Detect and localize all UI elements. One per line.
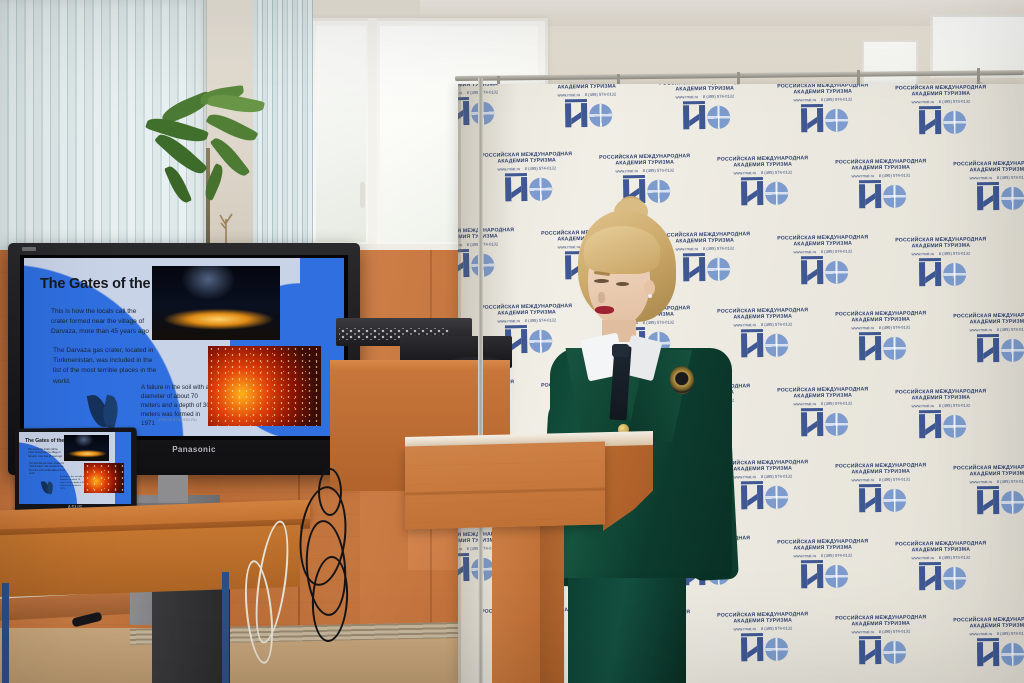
eye-right [616, 282, 629, 286]
banner-logo-block: РОССИЙСКАЯ МЕЖДУНАРОДНАЯАКАДЕМИЯ ТУРИЗМА… [940, 312, 1024, 364]
banner-website: www.rmat.ru [970, 175, 993, 180]
rmat-logo-icon [561, 99, 614, 130]
desk-leg-left [2, 583, 9, 683]
laptop-lava-texture [84, 463, 124, 493]
laptop-night-photo [64, 435, 109, 461]
rmat-logo-icon [915, 106, 967, 137]
banner-website: www.rmat.ru [793, 401, 816, 406]
banner-website: www.rmat.ru [912, 251, 935, 256]
banner-logo-block: РОССИЙСКАЯ МЕЖДУНАРОДНАЯАКАДЕМИЯ ТУРИЗМА… [822, 310, 941, 363]
banner-phone: 8 (495) 574-0132 [939, 99, 970, 104]
necktie-knot [612, 344, 629, 357]
banner-contact-line: www.rmat.ru 8 (495) 574-0132 [764, 400, 882, 407]
lips [595, 306, 614, 314]
banner-phone: 8 (495) 574-0132 [703, 94, 734, 99]
tv-stand-neck [158, 475, 188, 505]
banner-phone: 8 (495) 574-0132 [761, 474, 792, 479]
banner-website: www.rmat.ru [851, 325, 874, 330]
banner-contact-line: www.rmat.ru 8 (495) 574-0132 [822, 628, 940, 635]
rmat-logo-icon [855, 483, 907, 514]
banner-logo-block: РОССИЙСКАЯ МЕЖДУНАРОДНАЯАКАДЕМИЯ ТУРИЗМА… [764, 386, 883, 439]
banner-phone: 8 (495) 574-0132 [761, 626, 792, 631]
earring [648, 294, 652, 298]
banner-logo-block: РОССИЙСКАЯ МЕЖДУНАРОДНАЯАКАДЕМИЯ ТУРИЗМА… [822, 614, 941, 667]
banner-contact-line: www.rmat.ru 8 (495) 574-0132 [764, 96, 882, 103]
banner-contact-line: www.rmat.ru 8 (495) 574-0132 [822, 476, 940, 483]
rmat-logo-icon [797, 255, 849, 286]
lava-texture [208, 346, 321, 426]
rmat-logo-icon [737, 481, 789, 512]
banner-org-line-2: АКАДЕМИЯ ТУРИЗМА [882, 547, 1000, 555]
tv-logo-badge [22, 247, 36, 251]
banner-website: www.rmat.ru [851, 477, 874, 482]
banner-phone: 8 (495) 574-0132 [821, 552, 852, 557]
rmat-logo-icon [973, 486, 1024, 517]
laptop-lava-photo [84, 463, 124, 493]
banner-contact-line: www.rmat.ru 8 (495) 574-0132 [940, 478, 1024, 484]
slide-paragraph-3: A failure in the soil with a diameter of… [141, 384, 213, 429]
banner-website: www.rmat.ru [793, 553, 816, 558]
banner-org-line-2: АКАДЕМИЯ ТУРИЗМА [882, 243, 1000, 251]
banner-phone: 8 (495) 574-0132 [879, 172, 910, 177]
banner-logo-block: РОССИЙСКАЯ МЕЖДУНАРОДНАЯАКАДЕМИЯ ТУРИЗМА… [940, 160, 1024, 212]
banner-org-line-2: АКАДЕМИЯ ТУРИЗМА [940, 319, 1024, 327]
banner-contact-line: www.rmat.ru 8 (495) 574-0132 [586, 167, 704, 174]
banner-phone: 8 (495) 574-0132 [997, 631, 1024, 636]
banner-logo-block: РОССИЙСКАЯ МЕЖДУНАРОДНАЯАКАДЕМИЯ ТУРИЗМА… [822, 158, 941, 211]
banner-website: www.rmat.ru [675, 95, 698, 100]
banner-contact-line: www.rmat.ru 8 (495) 574-0132 [646, 94, 764, 101]
rmat-logo-icon [855, 331, 907, 362]
rmat-logo-icon [679, 101, 731, 132]
banner-logo-block: РОССИЙСКАЯ МЕЖДУНАРОДНАЯАКАДЕМИЯ ТУРИЗМА… [882, 236, 1001, 288]
banner-website: www.rmat.ru [970, 479, 993, 484]
rmat-logo-icon [797, 103, 849, 134]
laptop-slide-paragraph-2: The Darvaza gas crater, located in Turkm… [29, 463, 66, 477]
banner-website: www.rmat.ru [970, 327, 993, 332]
banner-phone: 8 (495) 574-0132 [585, 92, 617, 98]
rmat-logo-icon [973, 638, 1024, 669]
laptop-slide-mirror: The Gates of the Hell This is how the lo… [19, 432, 131, 504]
banner-logo-block: РОССИЙСКАЯ МЕЖДУНАРОДНАЯАКАДЕМИЯ ТУРИЗМА… [764, 84, 883, 135]
banner-website: www.rmat.ru [970, 631, 993, 636]
window-handle[interactable] [360, 182, 365, 208]
banner-logo-block: РОССИЙСКАЯ МЕЖДУНАРОДНАЯАКАДЕМИЯ ТУРИЗМА… [646, 84, 765, 132]
coiled-cable [318, 468, 342, 516]
banner-logo-block: РОССИЙСКАЯ МЕЖДУНАРОДНАЯАКАДЕМИЯ ТУРИЗМА… [882, 84, 1001, 136]
banner-website: www.rmat.ru [793, 249, 816, 254]
rmat-logo-icon [737, 177, 789, 208]
banner-phone: 8 (495) 574-0132 [821, 248, 852, 253]
rmat-logo-icon [737, 633, 789, 664]
banner-phone: 8 (495) 574-0132 [939, 403, 970, 408]
rmat-logo-icon [855, 179, 907, 210]
hair-front [584, 226, 660, 274]
far-window-small [862, 40, 918, 86]
rmat-logo-icon [797, 407, 849, 438]
rmat-logo-icon [915, 410, 967, 441]
banner-website: www.rmat.ru [733, 171, 756, 176]
presentation-room-photo: РОССИЙСКАЯ МЕЖДУНАРОДНАЯАКАДЕМИЯ ТУРИЗМА… [0, 0, 1024, 683]
banner-logo-block: РОССИЙСКАЯ МЕЖДУНАРОДНАЯАКАДЕМИЯ ТУРИЗМА… [528, 84, 647, 130]
banner-org-line-2: АКАДЕМИЯ ТУРИЗМА [940, 623, 1024, 631]
banner-website: www.rmat.ru [851, 173, 874, 178]
banner-website: www.rmat.ru [793, 97, 816, 102]
vertical-blinds-center[interactable] [253, 0, 313, 250]
nose [598, 292, 605, 303]
banner-org-line-2: АКАДЕМИЯ ТУРИЗМА [882, 91, 1000, 99]
banner-contact-line: www.rmat.ru 8 (495) 574-0132 [882, 554, 1000, 560]
banner-phone: 8 (495) 574-0132 [821, 96, 852, 101]
rmat-logo-icon [797, 559, 849, 590]
banner-website: www.rmat.ru [912, 555, 935, 560]
banner-website: www.rmat.ru [912, 403, 935, 408]
banner-phone: 8 (495) 574-0132 [997, 327, 1024, 332]
banner-contact-line: www.rmat.ru 8 (495) 574-0132 [704, 170, 822, 177]
banner-logo-block: РОССИЙСКАЯ МЕЖДУНАРОДНАЯАКАДЕМИЯ ТУРИЗМА… [764, 234, 883, 287]
banner-phone: 8 (495) 574-0132 [939, 251, 970, 256]
banner-contact-line: www.rmat.ru 8 (495) 574-0132 [764, 552, 882, 559]
banner-phone: 8 (495) 574-0132 [997, 175, 1024, 180]
banner-phone: 8 (495) 574-0132 [939, 555, 970, 560]
window-mullion [368, 18, 377, 250]
banner-phone: 8 (495) 574-0132 [821, 400, 852, 405]
banner-contact-line: www.rmat.ru 8 (495) 574-0132 [822, 172, 940, 179]
desk-leg-right [222, 572, 229, 683]
skirt [568, 574, 686, 683]
banner-contact-line: www.rmat.ru 8 (495) 574-0132 [764, 248, 882, 255]
banner-support-pole [478, 78, 483, 683]
banner-org-line-2: АКАДЕМИЯ ТУРИЗМА [940, 471, 1024, 479]
banner-org-line-2: АКАДЕМИЯ ТУРИЗМА [882, 395, 1000, 403]
banner-phone: 8 (495) 574-0132 [761, 322, 792, 327]
banner-phone: 8 (495) 574-0132 [997, 479, 1024, 484]
banner-contact-line: www.rmat.ru 8 (495) 574-0132 [822, 324, 940, 331]
banner-website: www.rmat.ru [912, 99, 935, 104]
banner-phone: 8 (495) 574-0132 [879, 628, 910, 633]
banner-phone: 8 (495) 574-0132 [525, 166, 557, 172]
banner-website: www.rmat.ru [615, 168, 638, 173]
banner-phone: 8 (495) 574-0132 [761, 170, 792, 175]
tv-brand-label: Panasonic [168, 444, 220, 455]
podium-column-shadow [540, 520, 566, 683]
rmat-logo-icon [973, 334, 1024, 365]
banner-website: www.rmat.ru [851, 629, 874, 634]
banner-logo-block: РОССИЙСКАЯ МЕЖДУНАРОДНАЯАКАДЕМИЯ ТУРИЗМА… [764, 538, 883, 591]
slide-paragraph-1: This is how the locals call the crater f… [51, 307, 154, 338]
banner-contact-line: www.rmat.ru 8 (495) 574-0132 [940, 326, 1024, 332]
banner-org-line-2: АКАДЕМИЯ ТУРИЗМА [940, 167, 1024, 175]
banner-contact-line: www.rmat.ru 8 (495) 574-0132 [528, 91, 646, 98]
banner-logo-block: РОССИЙСКАЯ МЕЖДУНАРОДНАЯАКАДЕМИЯ ТУРИЗМА… [882, 540, 1001, 592]
presentation-slide: The Gates of the Hell This is how the lo… [24, 258, 344, 436]
night-crater-photo [152, 266, 280, 340]
banner-phone: 8 (495) 574-0132 [879, 476, 910, 481]
banner-contact-line: www.rmat.ru 8 (495) 574-0132 [882, 402, 1000, 408]
slide-paragraph-2: The Darvaza gas crater, located in Turkm… [53, 346, 157, 387]
eye-left [594, 279, 609, 283]
rmat-logo-icon [855, 635, 907, 666]
rmat-logo-icon [737, 329, 789, 360]
window-pane-left [316, 26, 366, 242]
banner-phone: 8 (495) 574-0132 [643, 168, 675, 174]
rmat-logo-icon [973, 182, 1024, 213]
banner-contact-line: www.rmat.ru 8 (495) 574-0132 [940, 174, 1024, 180]
laptop-slide-paragraph-3: A failure in the soil with a diameter of… [60, 476, 86, 491]
rmat-logo-icon [915, 562, 967, 593]
banner-phone: 8 (495) 574-0132 [879, 324, 910, 329]
rmat-logo-icon [915, 258, 967, 289]
banner-logo-block: РОССИЙСКАЯ МЕЖДУНАРОДНАЯАКАДЕМИЯ ТУРИЗМА… [940, 616, 1024, 668]
laptop-screen: The Gates of the Hell This is how the lo… [19, 432, 131, 504]
banner-contact-line: www.rmat.ru 8 (495) 574-0132 [882, 250, 1000, 256]
laptop-slide-paragraph-1: This is how the locals call the crater f… [28, 449, 64, 459]
banner-contact-line: www.rmat.ru 8 (495) 574-0132 [940, 630, 1024, 636]
banner-contact-line: www.rmat.ru 8 (495) 574-0132 [882, 98, 1000, 104]
banner-logo-block: РОССИЙСКАЯ МЕЖДУНАРОДНАЯАКАДЕМИЯ ТУРИЗМА… [882, 388, 1001, 440]
podium-front-panel [405, 442, 605, 530]
banner-logo-block: РОССИЙСКАЯ МЕЖДУНАРОДНАЯАКАДЕМИЯ ТУРИЗМА… [940, 464, 1024, 516]
slide-credit: PRESENTATION.RU [142, 418, 214, 422]
lava-crater-photo [208, 346, 321, 426]
banner-website: www.rmat.ru [557, 93, 580, 98]
banner-logo-block: РОССИЙСКАЯ МЕЖДУНАРОДНАЯАКАДЕМИЯ ТУРИЗМА… [822, 462, 941, 515]
